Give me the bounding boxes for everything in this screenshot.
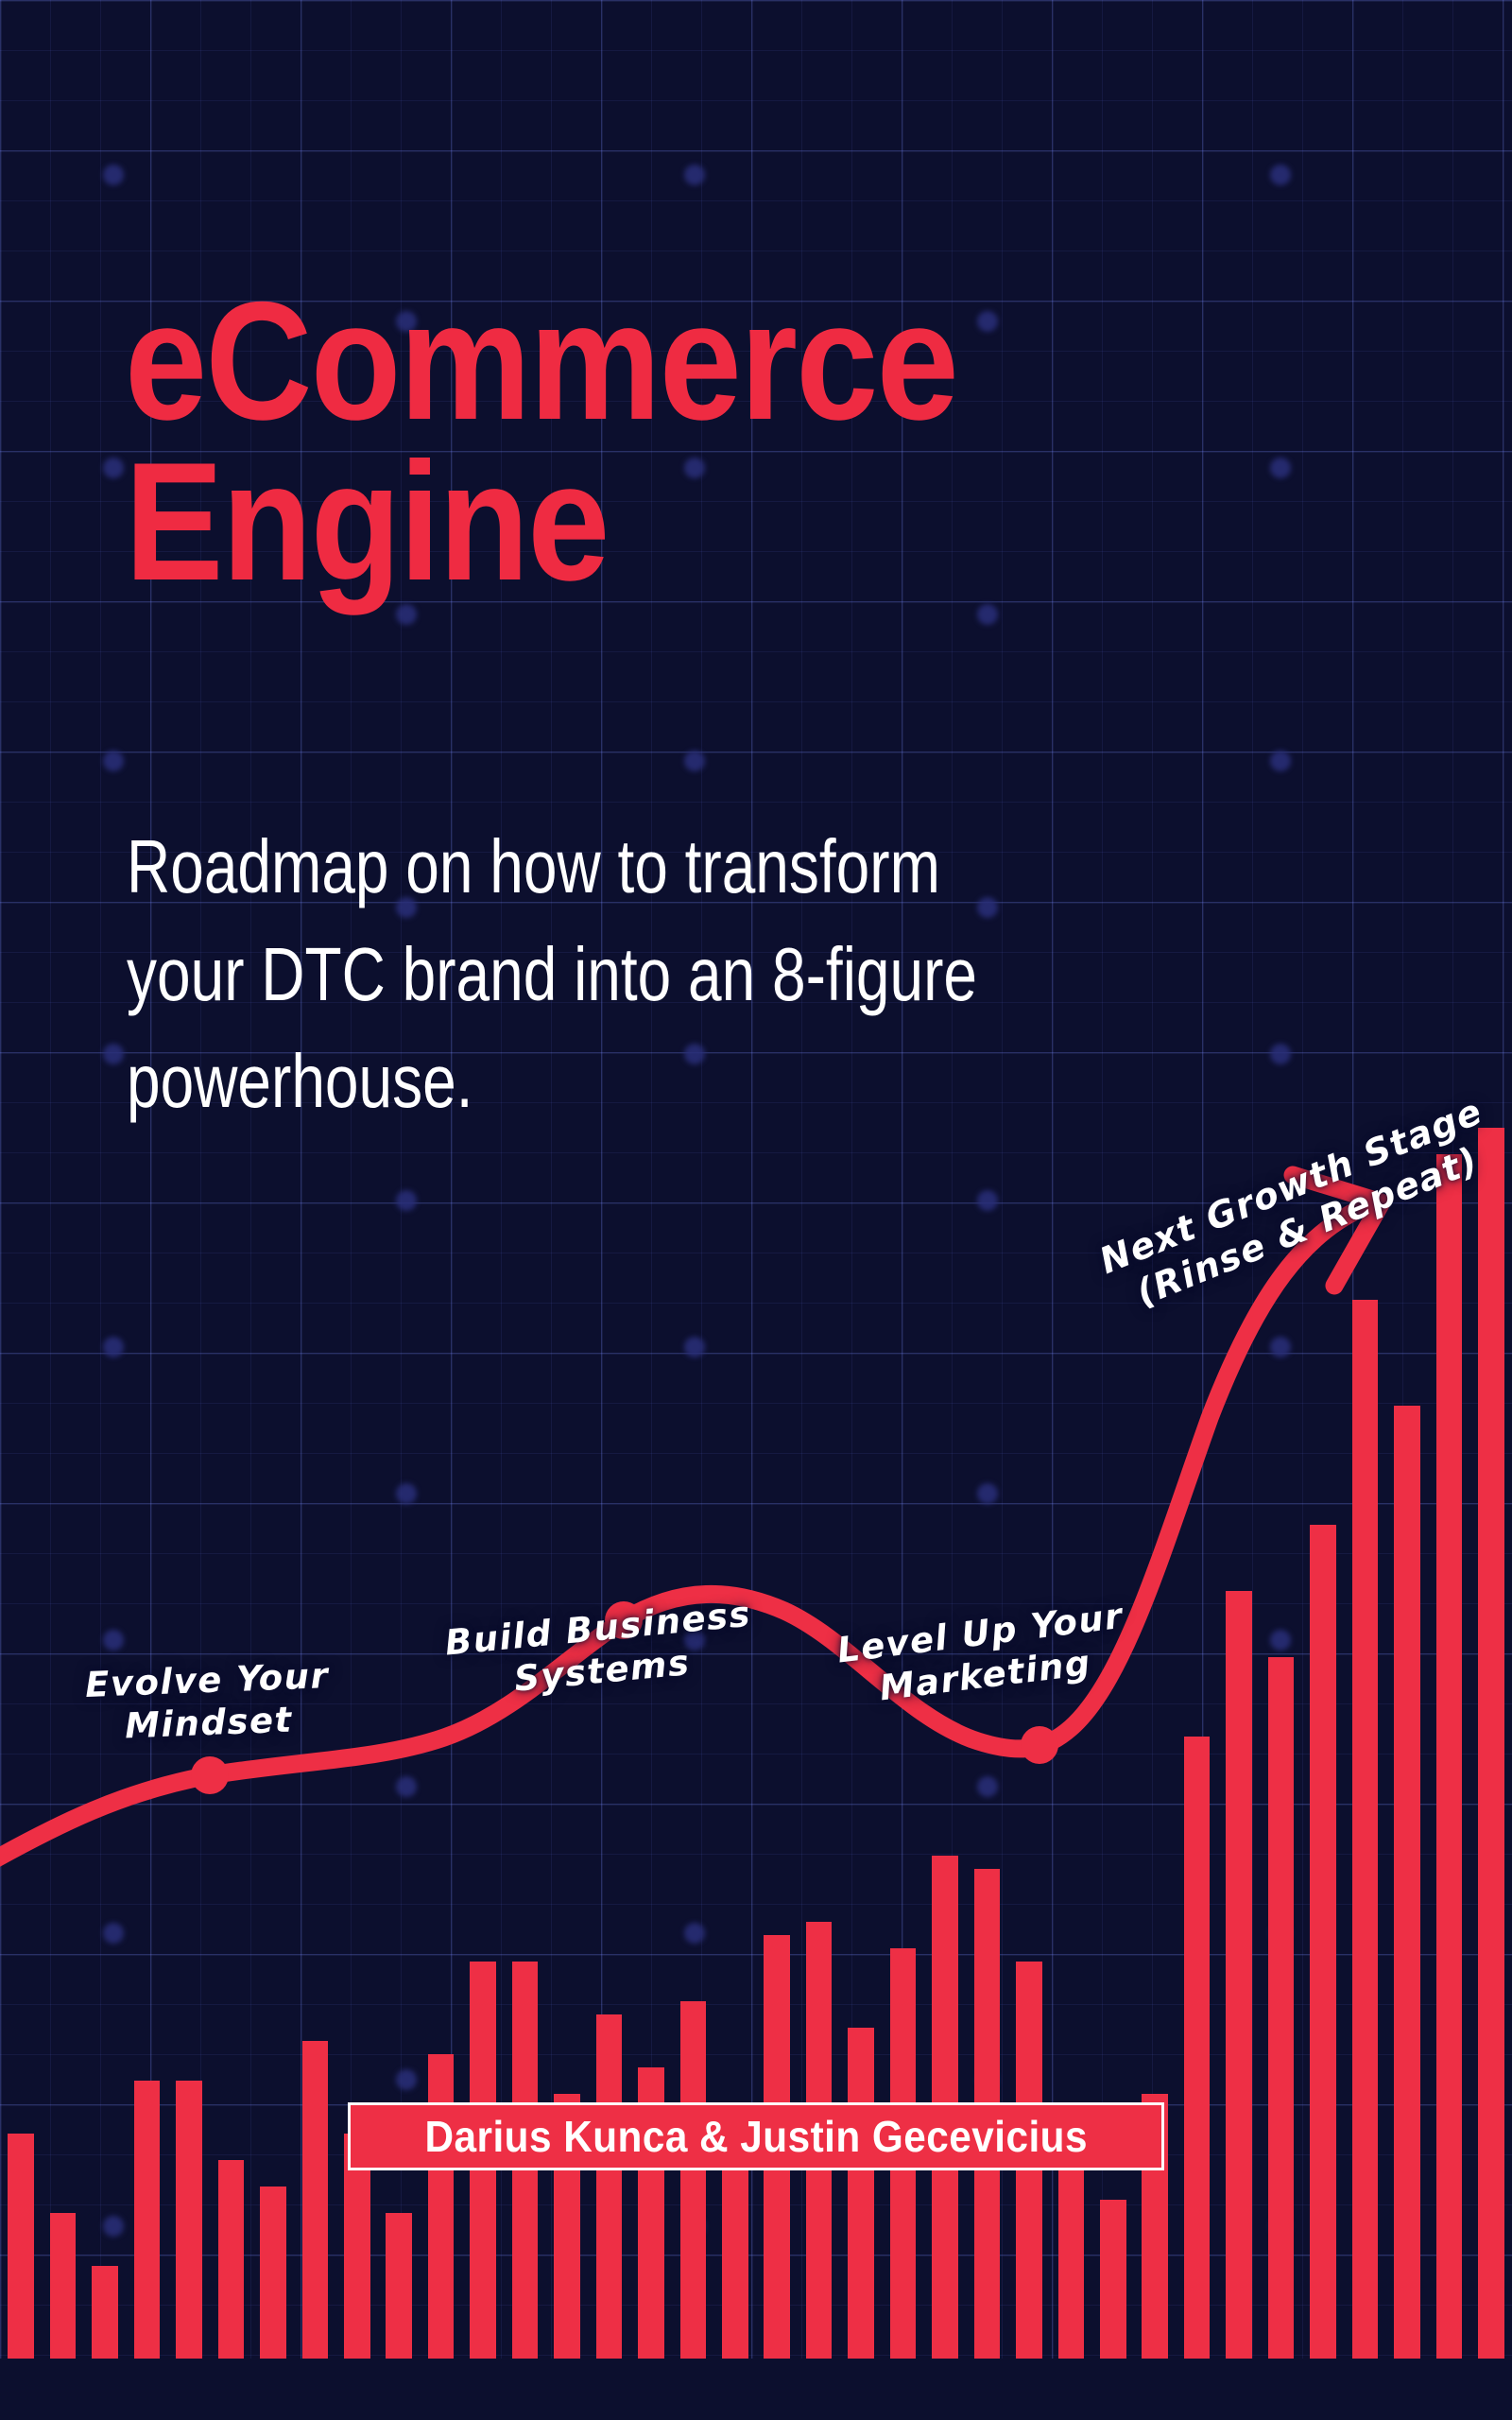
book-subtitle: Roadmap on how to transform your DTC bra… — [127, 813, 1019, 1135]
bar-10 — [386, 2213, 412, 2359]
bar-32 — [1310, 1525, 1336, 2359]
bar-5 — [176, 2081, 202, 2359]
bar-21 — [848, 2028, 874, 2359]
bar-27 — [1100, 2200, 1126, 2359]
bar-35 — [1436, 1154, 1463, 2359]
chart-baseline-strip — [0, 2359, 1512, 2420]
bar-36 — [1478, 1128, 1504, 2359]
bar-26 — [1058, 2147, 1085, 2359]
bar-2 — [50, 2213, 77, 2359]
bar-33 — [1352, 1300, 1379, 2359]
bar-30 — [1226, 1591, 1252, 2359]
bar-17 — [680, 2001, 707, 2359]
bar-31 — [1268, 1657, 1295, 2359]
bar-15 — [596, 2014, 623, 2359]
book-title-line-1: eCommerce — [125, 284, 1173, 439]
author-names: Darius Kunca & Justin Gecevicius — [424, 2111, 1088, 2162]
bar-29 — [1184, 1737, 1211, 2359]
annotation-evolve-your-mindset: Evolve Your Mindset — [55, 1653, 360, 1750]
bar-34 — [1394, 1406, 1420, 2359]
title-block: eCommerce Engine — [125, 284, 1315, 605]
book-title-line-2: Engine — [125, 444, 1173, 599]
bar-4 — [134, 2081, 161, 2359]
bar-8 — [302, 2041, 329, 2359]
bar-11 — [428, 2054, 455, 2359]
author-banner: Darius Kunca & Justin Gecevicius — [348, 2102, 1164, 2170]
bar-1 — [8, 2134, 34, 2359]
bar-7 — [260, 2187, 286, 2359]
bar-3 — [92, 2266, 118, 2359]
bar-6 — [218, 2160, 245, 2359]
book-cover: eCommerce Engine Roadmap on how to trans… — [0, 0, 1512, 2420]
